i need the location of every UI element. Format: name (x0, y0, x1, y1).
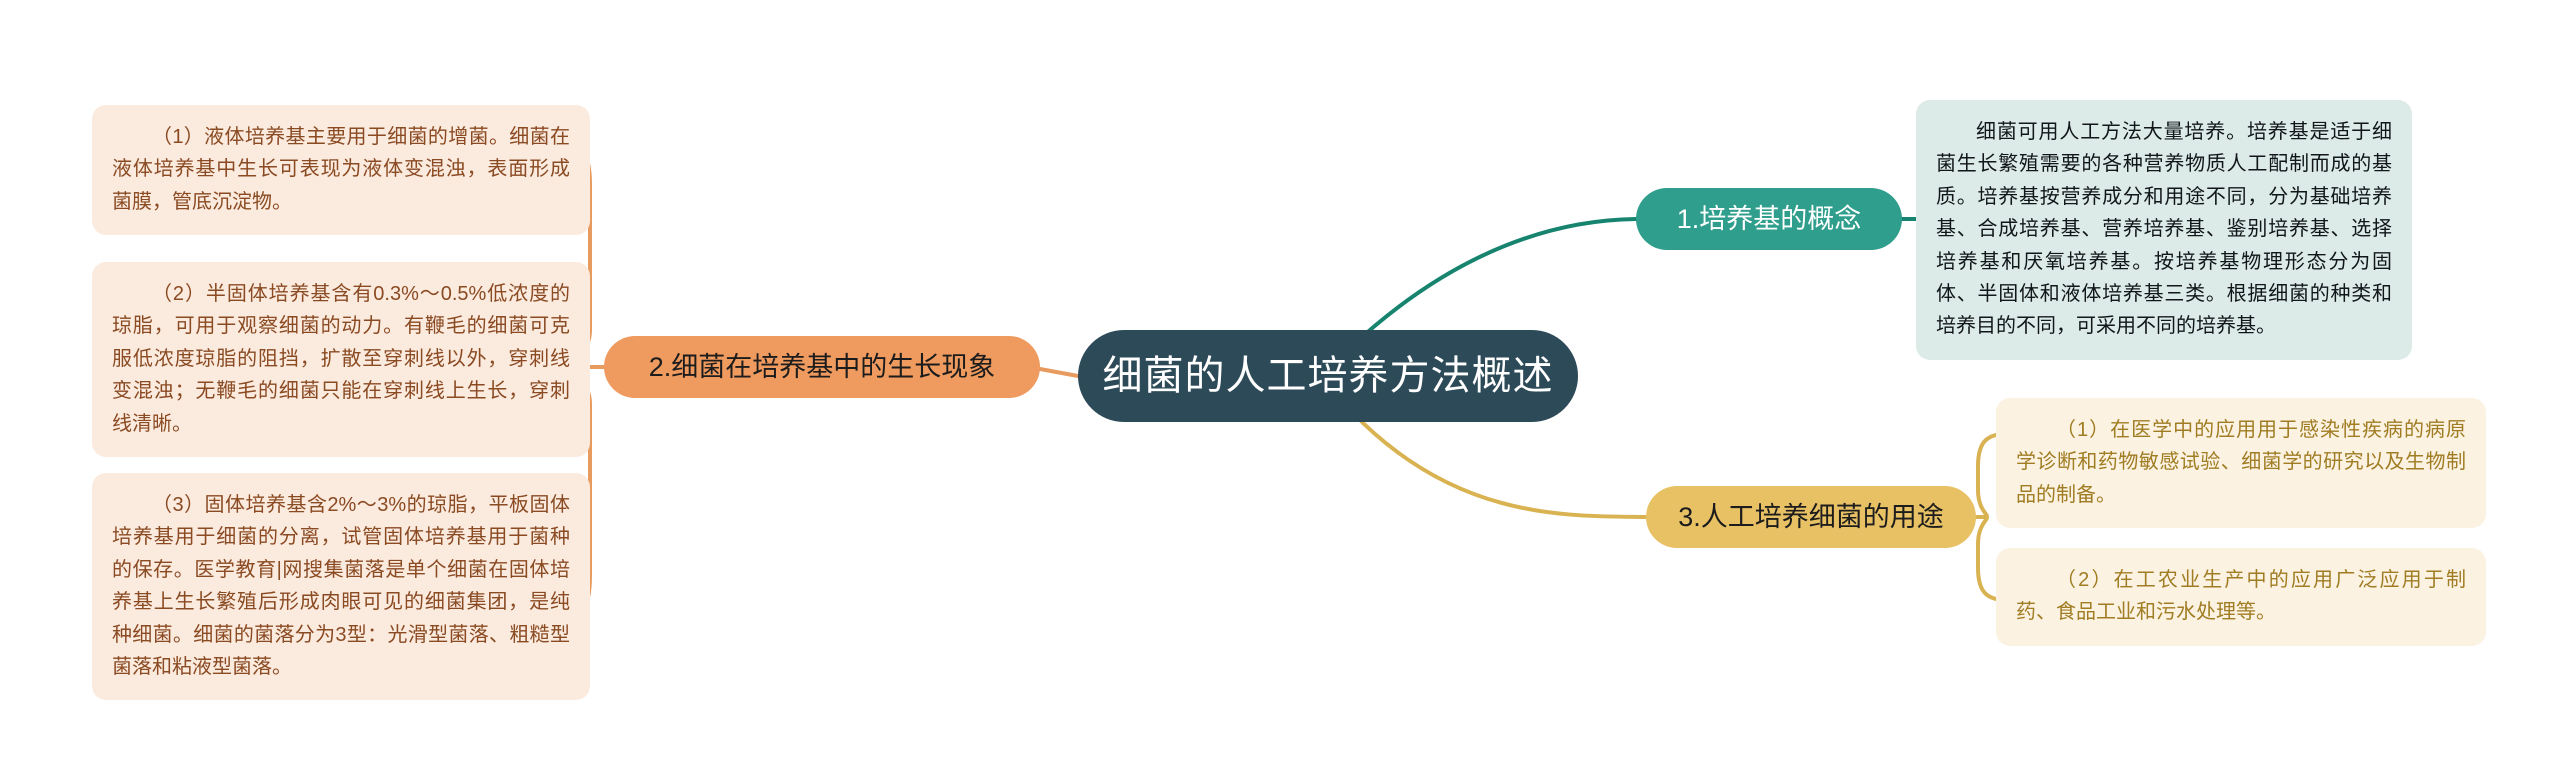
branch-node-3-label: 3.人工培养细菌的用途 (1678, 504, 1944, 531)
leaf-text: （2）在工农业生产中的应用广泛应用于制药、食品工业和污水处理等。 (2016, 564, 2466, 629)
branch-node-1[interactable]: 1.培养基的概念 (1636, 188, 1902, 250)
leaf-text: （1）在医学中的应用用于感染性疾病的病原学诊断和药物敏感试验、细菌学的研究以及生… (2016, 414, 2466, 511)
root-node[interactable]: 细菌的人工培养方法概述 (1078, 330, 1578, 422)
leaf-box[interactable]: 细菌可用人工方法大量培养。培养基是适于细菌生长繁殖需要的各种营养物质人工配制而成… (1916, 100, 2412, 360)
branch-node-1-label: 1.培养基的概念 (1677, 206, 1862, 233)
leaf-box[interactable]: （2）在工农业生产中的应用广泛应用于制药、食品工业和污水处理等。 (1996, 548, 2486, 646)
leaf-box[interactable]: （3）固体培养基含2%～3%的琼脂，平板固体培养基用于细菌的分离，试管固体培养基… (92, 473, 590, 700)
leaf-text: 细菌可用人工方法大量培养。培养基是适于细菌生长繁殖需要的各种营养物质人工配制而成… (1936, 116, 2392, 343)
leaf-box[interactable]: （1）在医学中的应用用于感染性疾病的病原学诊断和药物敏感试验、细菌学的研究以及生… (1996, 398, 2486, 528)
leaf-text: （1）液体培养基主要用于细菌的增菌。细菌在液体培养基中生长可表现为液体变混浊，表… (112, 121, 570, 218)
branch-node-3[interactable]: 3.人工培养细菌的用途 (1646, 486, 1976, 548)
root-node-label: 细菌的人工培养方法概述 (1103, 356, 1554, 396)
leaf-text: （3）固体培养基含2%～3%的琼脂，平板固体培养基用于细菌的分离，试管固体培养基… (112, 489, 570, 683)
leaf-box[interactable]: （1）液体培养基主要用于细菌的增菌。细菌在液体培养基中生长可表现为液体变混浊，表… (92, 105, 590, 235)
branch-node-2-label: 2.细菌在培养基中的生长现象 (649, 354, 996, 381)
branch-node-2[interactable]: 2.细菌在培养基中的生长现象 (604, 336, 1040, 398)
leaf-box[interactable]: （2）半固体培养基含有0.3%～0.5%低浓度的琼脂，可用于观察细菌的动力。有鞭… (92, 262, 590, 457)
leaf-text: （2）半固体培养基含有0.3%～0.5%低浓度的琼脂，可用于观察细菌的动力。有鞭… (112, 278, 570, 440)
wire-root-to-branch-1 (1352, 219, 1636, 346)
mindmap-canvas: （1）液体培养基主要用于细菌的增菌。细菌在液体培养基中生长可表现为液体变混浊，表… (0, 0, 2560, 762)
wire-root-to-branch-3 (1352, 412, 1646, 517)
wire-root-to-branch-2 (1040, 369, 1078, 376)
